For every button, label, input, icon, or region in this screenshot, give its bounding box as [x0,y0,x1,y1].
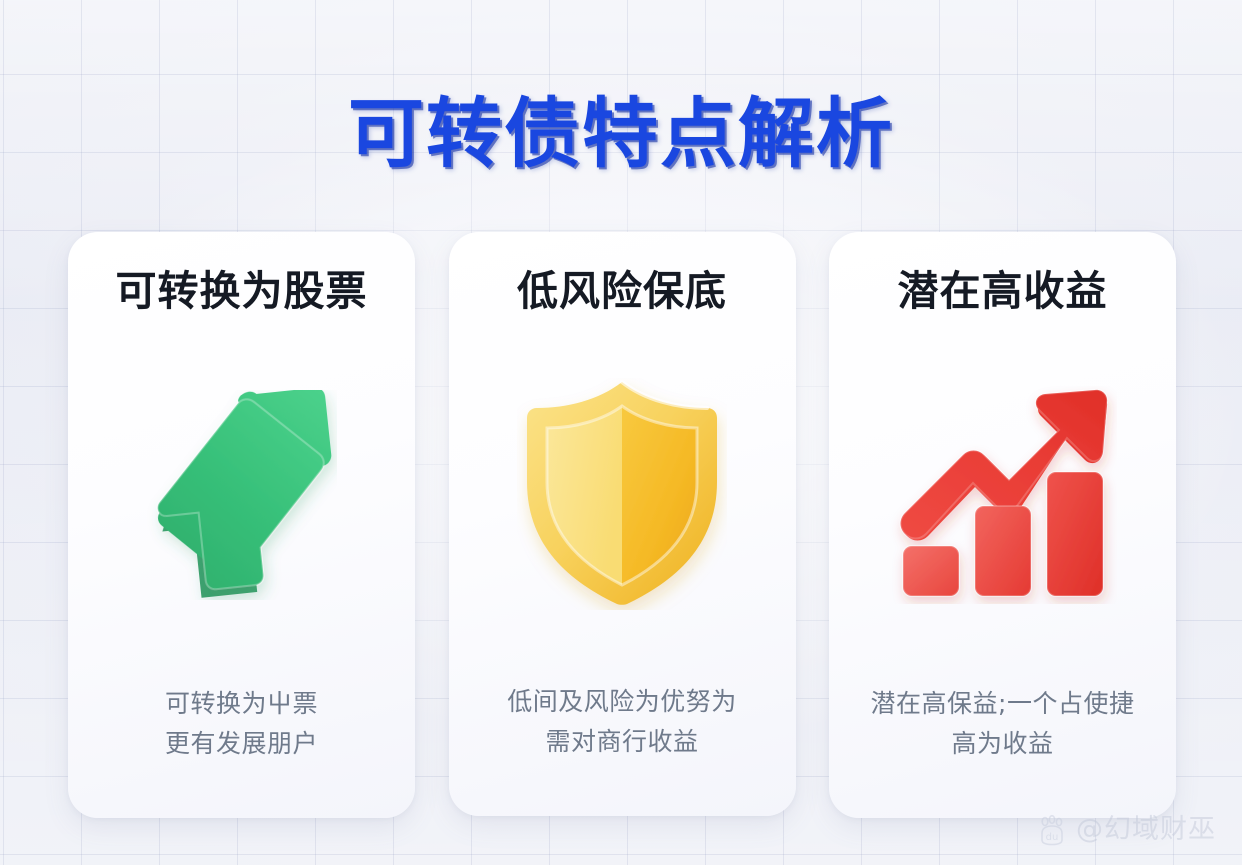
red-growth-chart-icon [889,386,1117,604]
card-icon-container [829,306,1176,684]
card-icon-container [68,306,415,684]
card-description-line2: 高为收益 [871,724,1135,764]
card-description-line2: 需对商行收益 [507,722,737,762]
card-icon-container [449,306,796,682]
feature-card-convertible[interactable]: 可转换为股票 [68,232,415,818]
page-title: 可转债特点解析 [0,92,1242,176]
card-description-line2: 更有发展朋户 [165,724,318,764]
card-description: 低间及风险为优努为 需对商行收益 [485,682,759,816]
card-description-line1: 潜在高保益;一个占使捷 [871,684,1135,724]
watermark-handle: @幻域财巫 [1076,815,1216,845]
green-up-arrow-icon [147,390,337,600]
feature-card-list: 可转换为股票 [68,232,1176,820]
card-description-line1: 可转换为屮票 [165,684,318,724]
card-description-line1: 低间及风险为优努为 [507,682,737,722]
card-description: 潜在高保益;一个占使捷 高为收益 [849,684,1157,818]
poster-canvas: 可转债特点解析 可转换为股票 [0,0,1242,865]
gold-shield-icon [517,378,727,610]
feature-card-high-return[interactable]: 潜在高收益 [829,232,1176,818]
watermark: du @幻域财巫 [1035,813,1216,847]
card-description: 可转换为屮票 更有发展朋户 [143,684,340,818]
baidu-paw-icon: du [1035,813,1069,847]
feature-card-low-risk[interactable]: 低风险保底 [449,232,796,816]
svg-text:du: du [1046,832,1059,843]
